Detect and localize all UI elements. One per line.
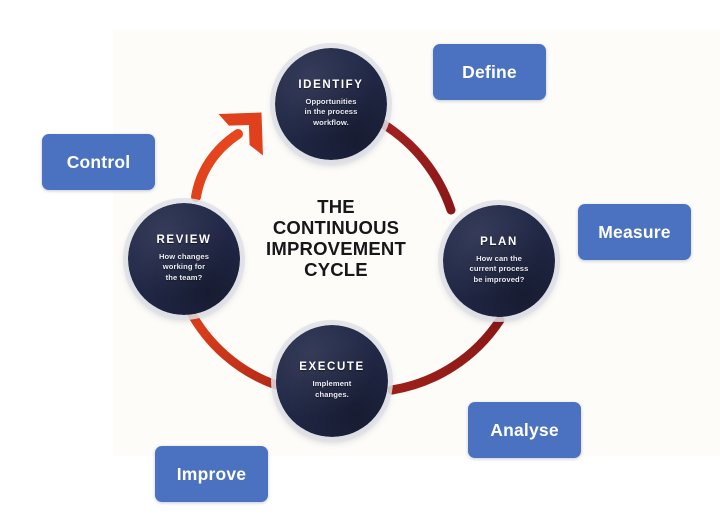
chip-improve[interactable]: Improve <box>155 446 268 502</box>
node-execute-title: EXECUTE <box>284 361 380 374</box>
chip-analyse[interactable]: Analyse <box>468 402 581 458</box>
node-identify-desc-line-3: workflow. <box>313 118 349 127</box>
center-title-line-2: CONTINUOUS <box>250 217 422 238</box>
arc-execute-to-review <box>189 309 276 385</box>
node-execute-description: Implement changes. <box>284 379 380 401</box>
node-plan-desc-line-2: current process <box>470 264 529 273</box>
arc-plan-to-execute <box>392 320 500 390</box>
arc-review-to-identify <box>196 134 238 197</box>
chip-control[interactable]: Control <box>42 134 155 190</box>
chip-define[interactable]: Define <box>433 44 546 100</box>
node-review-description: How changes working for the team? <box>136 252 232 284</box>
node-execute-desc-line-1: Implement <box>313 379 352 388</box>
node-identify-desc-line-1: Opportunities <box>305 97 356 106</box>
node-execute-desc-line-2: changes. <box>315 390 349 399</box>
center-title: THE CONTINUOUS IMPROVEMENT CYCLE <box>250 196 422 280</box>
node-identify[interactable]: IDENTIFY Opportunities in the process wo… <box>275 48 387 160</box>
center-title-line-1: THE <box>250 196 422 217</box>
node-identify-description: Opportunities in the process workflow. <box>283 97 379 129</box>
node-review-title: REVIEW <box>136 234 232 247</box>
node-plan[interactable]: PLAN How can the current process be impr… <box>443 205 555 317</box>
node-review-desc-line-1: How changes <box>159 252 209 261</box>
node-identify-title: IDENTIFY <box>283 79 379 92</box>
node-review[interactable]: REVIEW How changes working for the team? <box>128 203 240 315</box>
center-title-line-3: IMPROVEMENT <box>250 238 422 259</box>
node-review-desc-line-3: the team? <box>166 273 203 282</box>
node-plan-description: How can the current process be improved? <box>451 254 547 286</box>
center-title-line-4: CYCLE <box>250 259 422 280</box>
node-plan-desc-line-1: How can the <box>476 254 522 263</box>
node-plan-desc-line-3: be improved? <box>474 275 525 284</box>
diagram-canvas: IDENTIFY Opportunities in the process wo… <box>0 0 720 530</box>
node-execute[interactable]: EXECUTE Implement changes. <box>276 325 388 437</box>
node-plan-title: PLAN <box>451 236 547 249</box>
node-review-desc-line-2: working for <box>163 262 205 271</box>
node-identify-desc-line-2: in the process <box>305 107 358 116</box>
chip-measure[interactable]: Measure <box>578 204 691 260</box>
